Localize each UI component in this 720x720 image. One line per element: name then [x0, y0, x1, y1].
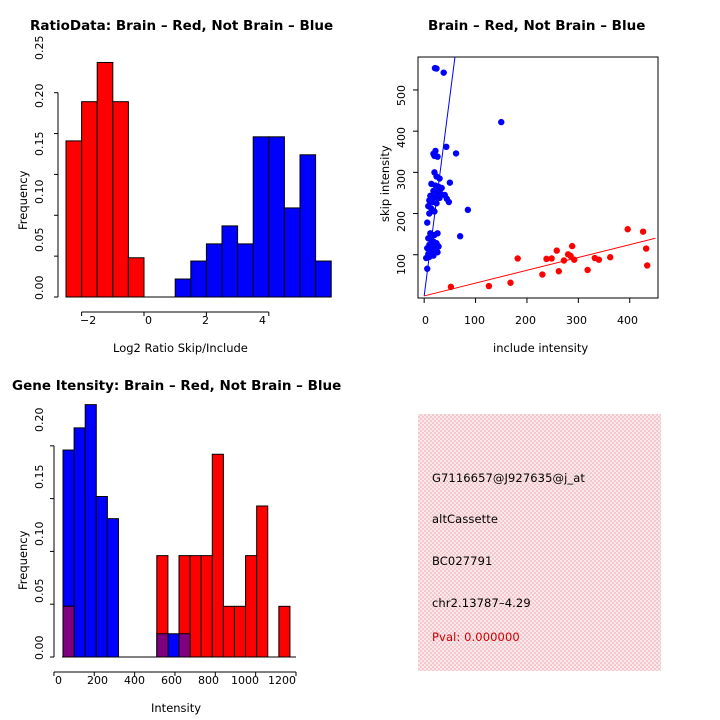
- info-line-p-value: Pval: 0.000000: [432, 630, 520, 644]
- gene-intensity-plot: [0, 360, 360, 720]
- scatter-plot: [360, 0, 720, 360]
- ratio-histogram-plot: [0, 0, 360, 360]
- figure-canvas: RatioData: Brain – Red, Not Brain – Blue…: [0, 0, 720, 720]
- info-line-genomic-location: chr2.13787–4.29: [432, 596, 531, 610]
- info-line-accession-id: BC027791: [432, 554, 492, 568]
- gene-intensity-panel: Gene Itensity: Brain – Red, Not Brain – …: [0, 360, 360, 720]
- gene-info-panel: G7116657@J927635@j_at altCassette BC0277…: [418, 414, 661, 671]
- intensity-scatter-panel: Brain – Red, Not Brain – Blue skip inten…: [360, 0, 720, 360]
- info-line-probe-id: G7116657@J927635@j_at: [432, 471, 585, 485]
- info-line-event-type: altCassette: [432, 512, 498, 526]
- ratio-histogram-panel: RatioData: Brain – Red, Not Brain – Blue…: [0, 0, 360, 360]
